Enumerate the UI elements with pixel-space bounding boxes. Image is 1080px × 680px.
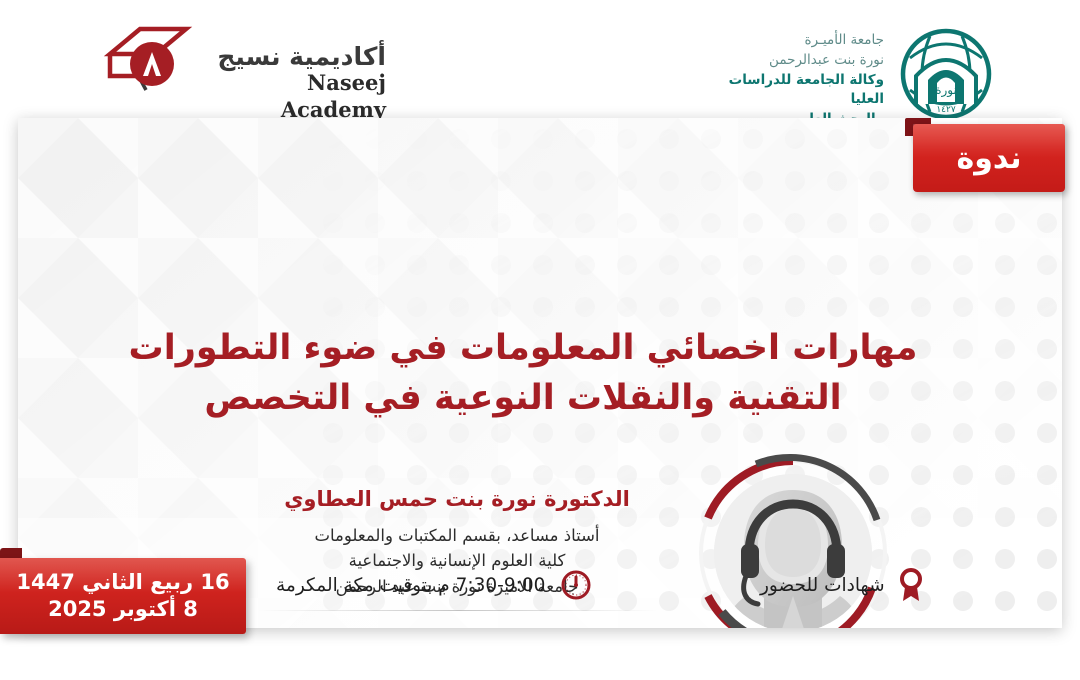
pnu-arch-emblem: نورة ١٤٢٧ — [900, 28, 992, 120]
speaker-divider — [258, 610, 658, 611]
poster-header: أكاديمية نسيج Naseej Academy جامعة الأمي… — [0, 0, 1080, 118]
university-logo: جامعة الأميـرة نورة بنت عبدالرحمن وكالة … — [692, 16, 992, 112]
event-time: 7:30-9:00 م بتوقيت مكة المكرمة — [276, 575, 545, 596]
certificate-text: شهادات للحضور — [760, 575, 885, 596]
speaker-name: الدكتورة نورة بنت حمس العطاوي — [272, 484, 642, 516]
naseej-academy-logo: أكاديمية نسيج Naseej Academy — [96, 22, 386, 94]
date-hijri: 16 ربيع الثاني 1447 — [16, 569, 229, 596]
university-line-1: جامعة الأميـرة — [694, 30, 884, 50]
svg-text:١٤٢٧: ١٤٢٧ — [936, 105, 956, 115]
clock-icon — [559, 568, 593, 602]
university-line-2: نورة بنت عبدالرحمن — [694, 50, 884, 70]
poster-canvas: أكاديمية نسيج Naseej Academy جامعة الأمي… — [0, 0, 1080, 680]
naseej-arabic-name: أكاديمية نسيج — [200, 44, 386, 70]
naseej-graduation-cap-logo — [102, 24, 194, 94]
naseej-wordmark: أكاديمية نسيج Naseej Academy — [200, 44, 386, 123]
date-gregorian: 8 أكتوبر 2025 — [48, 596, 198, 623]
page-title: مهارات اخصائي المعلومات في ضوء التطورات … — [78, 324, 968, 423]
badge-label: ندوة — [957, 141, 1022, 176]
award-ribbon-icon — [897, 568, 925, 602]
event-time-group: 7:30-9:00 م بتوقيت مكة المكرمة — [276, 568, 593, 602]
naseej-english-name: Naseej Academy — [200, 70, 386, 123]
date-ribbon: 16 ربيع الثاني 1447 8 أكتوبر 2025 — [0, 558, 248, 634]
certificate-group: شهادات للحضور — [760, 568, 925, 602]
ribbon-body: 16 ربيع الثاني 1447 8 أكتوبر 2025 — [0, 558, 246, 634]
university-line-3: وكالة الجامعة للدراسات العليا — [694, 71, 884, 110]
speaker-role: أستاذ مساعد، بقسم المكتبات والمعلومات — [272, 523, 642, 549]
badge-body: ندوة — [913, 124, 1065, 192]
event-type-badge: ندوة — [905, 118, 1065, 198]
svg-text:نورة: نورة — [935, 83, 957, 98]
